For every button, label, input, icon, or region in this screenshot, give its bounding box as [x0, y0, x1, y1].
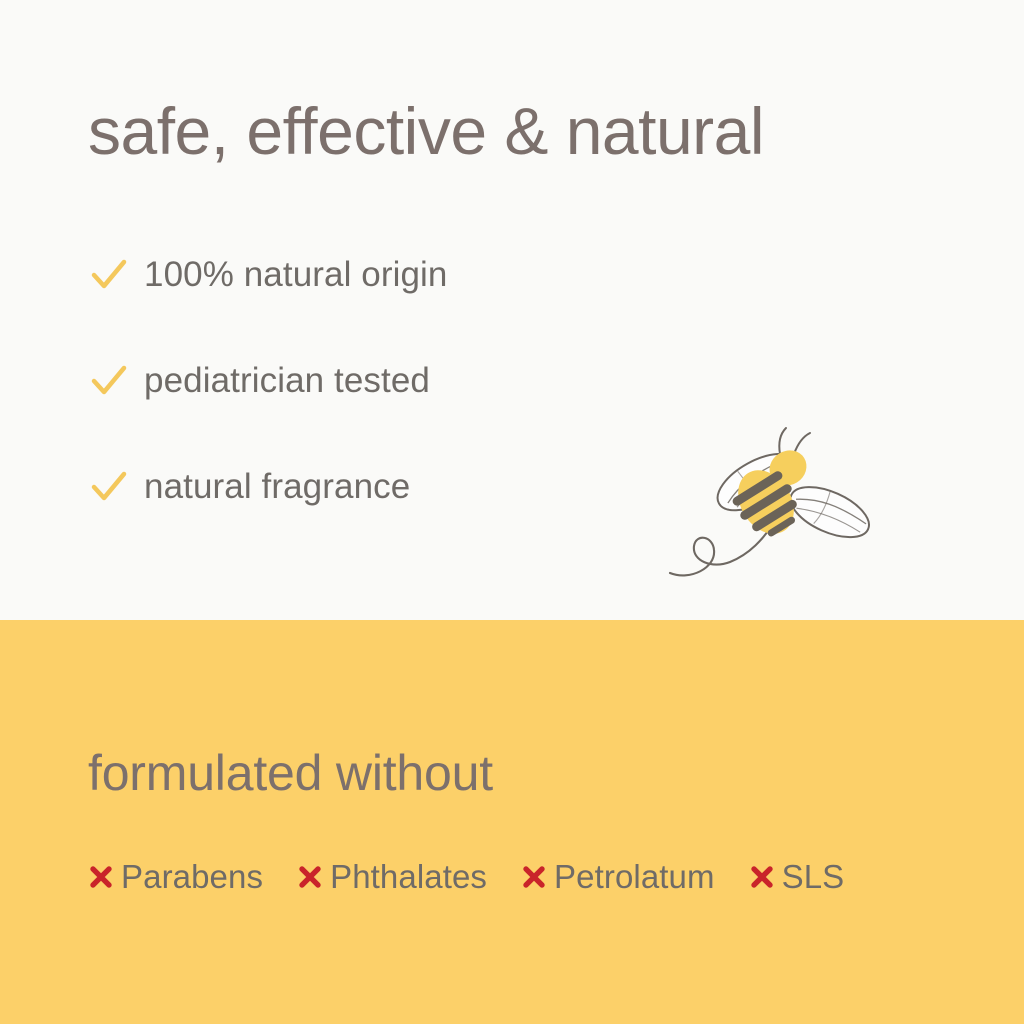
exclusion-label: SLS	[782, 858, 845, 896]
list-item: pediatrician tested	[88, 328, 447, 434]
list-item: 100% natural origin	[88, 222, 447, 328]
list-item: Petrolatum	[521, 858, 715, 896]
exclusion-label: Parabens	[121, 858, 263, 896]
exclusions-panel: formulated without Parabens Phthalates	[0, 620, 1024, 1024]
benefit-label: pediatrician tested	[144, 361, 430, 401]
benefits-panel: safe, effective & natural 100% natural o…	[0, 0, 1024, 620]
check-icon	[88, 254, 144, 296]
benefit-label: natural fragrance	[144, 467, 410, 507]
exclusion-label: Phthalates	[330, 858, 487, 896]
list-item: SLS	[749, 858, 845, 896]
list-item: Phthalates	[297, 858, 487, 896]
cross-icon	[297, 864, 330, 890]
exclusion-label: Petrolatum	[554, 858, 715, 896]
page-title: safe, effective & natural	[88, 98, 764, 164]
check-icon	[88, 360, 144, 402]
list-item: Parabens	[88, 858, 263, 896]
exclusion-list: Parabens Phthalates Petrolatum	[88, 858, 844, 896]
product-claims-poster: safe, effective & natural 100% natural o…	[0, 0, 1024, 1024]
cross-icon	[88, 864, 121, 890]
cross-icon	[521, 864, 554, 890]
check-icon	[88, 466, 144, 508]
cross-icon	[749, 864, 782, 890]
benefit-label: 100% natural origin	[144, 255, 447, 295]
section-title: formulated without	[88, 748, 493, 798]
bee-illustration	[668, 418, 878, 598]
list-item: natural fragrance	[88, 434, 447, 540]
benefit-list: 100% natural origin pediatrician tested …	[88, 222, 447, 540]
